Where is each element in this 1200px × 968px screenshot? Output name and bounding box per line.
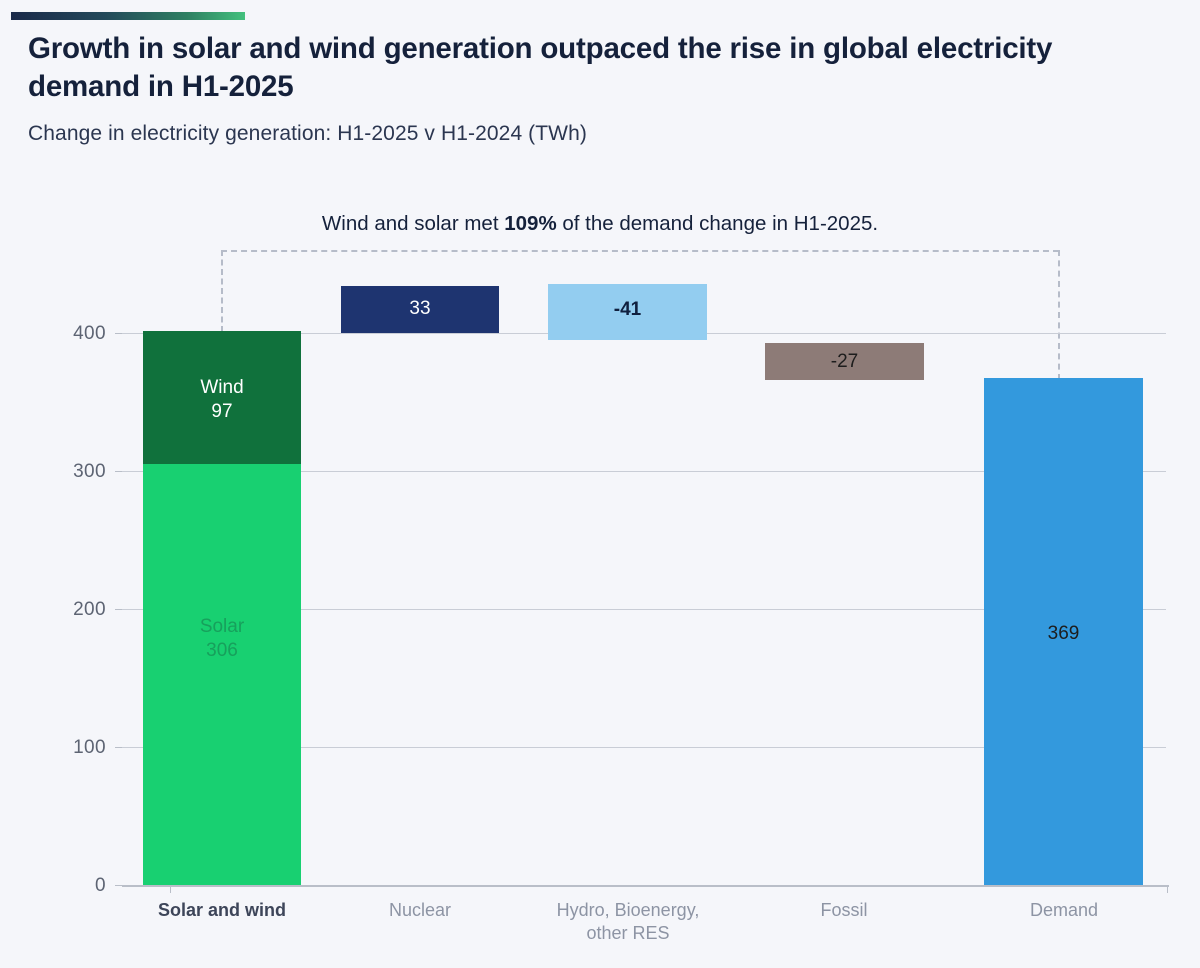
bar-wind[interactable]: Wind97 (143, 331, 301, 464)
xtick-text-solar-wind: Solar and wind (158, 900, 286, 920)
tick-mark-0 (115, 885, 122, 886)
tick-mark-400 (115, 333, 122, 334)
bar-label-hydro: -41 (548, 298, 707, 322)
annotation-bracket-right-leg (1058, 250, 1060, 380)
tick-mark-300 (115, 471, 122, 472)
chart-page: Growth in solar and wind generation outp… (0, 0, 1200, 968)
xtick-mark-solar-wind (170, 886, 171, 893)
ytick-label-0: 0 (95, 875, 106, 897)
bar-solar[interactable]: Solar306 (143, 464, 301, 885)
annotation-bracket-top (221, 250, 1059, 252)
annotation-bracket-left-leg (221, 250, 223, 332)
bar-label-wind: Wind97 (143, 376, 301, 424)
ytick-label-400: 400 (73, 323, 106, 345)
plot-area: Wind and solar met 109% of the demand ch… (0, 0, 1200, 968)
xtick-label-demand: Demand (944, 899, 1184, 922)
xtick-label-nuclear: Nuclear (300, 899, 540, 922)
tick-mark-200 (115, 609, 122, 610)
ytick-label-300: 300 (73, 461, 106, 483)
xtick-label-fossil: Fossil (724, 899, 964, 922)
bar-label-demand: 369 (984, 622, 1143, 646)
annotation-highlight: 109% (504, 212, 556, 235)
annotation-prefix: Wind and solar met (322, 212, 504, 235)
bar-nuclear[interactable]: 33 (341, 286, 499, 333)
ytick-label-100: 100 (73, 737, 106, 759)
ytick-label-200: 200 (73, 599, 106, 621)
bar-demand[interactable]: 369 (984, 378, 1143, 885)
bar-label-fossil: -27 (765, 350, 924, 374)
bar-fossil[interactable]: -27 (765, 343, 924, 380)
tick-mark-100 (115, 747, 122, 748)
bar-hydro[interactable]: -41 (548, 284, 707, 340)
annotation-label: Wind and solar met 109% of the demand ch… (0, 212, 1200, 236)
axis-baseline (122, 885, 1169, 887)
xtick-label-hydro: Hydro, Bioenergy,other RES (508, 899, 748, 944)
xtick-mark-demand (1167, 886, 1168, 893)
annotation-suffix: of the demand change in H1-2025. (557, 212, 878, 235)
bar-label-nuclear: 33 (341, 297, 499, 321)
bar-label-solar: Solar306 (143, 615, 301, 663)
